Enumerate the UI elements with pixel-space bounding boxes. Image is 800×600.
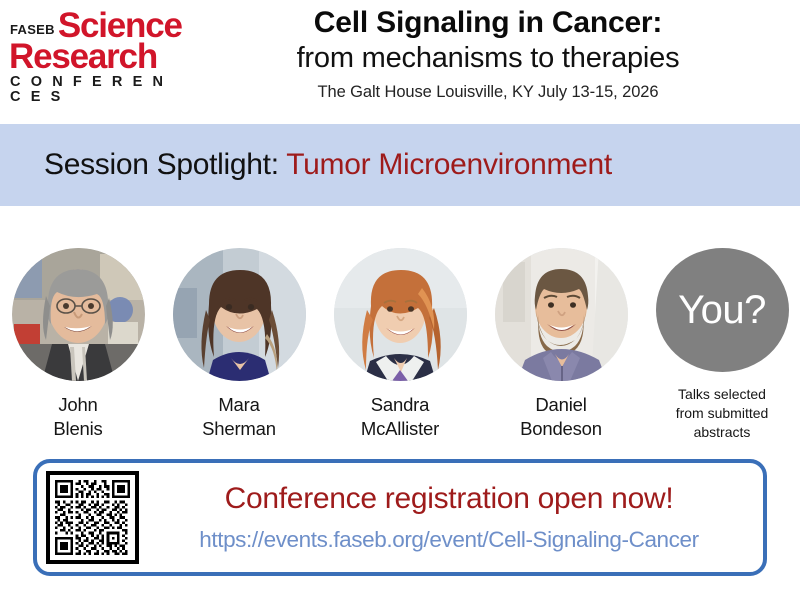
caption-line-3: abstracts bbox=[676, 423, 769, 442]
spotlight-topic: Tumor Microenvironment bbox=[286, 148, 612, 181]
page-subtitle: from mechanisms to therapies bbox=[186, 41, 790, 75]
avatar bbox=[12, 248, 145, 381]
registration-box[interactable]: Conference registration open now! https:… bbox=[33, 459, 767, 576]
spotlight-label: Session Spotlight: bbox=[44, 148, 286, 181]
logo-research-text: Research bbox=[8, 40, 180, 73]
speaker-name: Sandra McAllister bbox=[361, 393, 439, 442]
you-circle: You? bbox=[656, 248, 789, 372]
speaker-name: John Blenis bbox=[53, 393, 102, 442]
caption-line-1: Talks selected bbox=[676, 385, 769, 404]
avatar bbox=[173, 248, 306, 381]
speaker-last-name: Bondeson bbox=[520, 417, 602, 441]
caption-line-2: from submitted bbox=[676, 404, 769, 423]
header: FASEB Science Research C O N F E R E N C… bbox=[0, 0, 800, 124]
speaker-first-name: Mara bbox=[202, 393, 276, 417]
speaker-first-name: Sandra bbox=[361, 393, 439, 417]
speaker-row: John Blenis bbox=[0, 212, 800, 442]
open-slot-card[interactable]: You? Talks selected from submitted abstr… bbox=[646, 212, 798, 442]
venue-date-line: The Galt House Louisville, KY July 13-15… bbox=[186, 83, 790, 102]
speaker-last-name: McAllister bbox=[361, 417, 439, 441]
avatar bbox=[334, 248, 467, 381]
logo-conferences-text: C O N F E R E N C E S bbox=[8, 75, 180, 104]
page-title: Cell Signaling in Cancer: bbox=[186, 6, 790, 40]
speaker-first-name: Daniel bbox=[520, 393, 602, 417]
spotlight-heading: Session Spotlight: Tumor Microenvironmen… bbox=[44, 148, 612, 182]
qr-code[interactable] bbox=[46, 471, 139, 564]
speaker-card[interactable]: Mara Sherman bbox=[163, 212, 315, 442]
speaker-last-name: Blenis bbox=[53, 417, 102, 441]
registration-headline: Conference registration open now! bbox=[139, 481, 759, 517]
you-label: You? bbox=[678, 290, 766, 330]
speaker-first-name: John bbox=[53, 393, 102, 417]
speaker-card[interactable]: Daniel Bondeson bbox=[485, 212, 637, 442]
speaker-name: Daniel Bondeson bbox=[520, 393, 602, 442]
speaker-last-name: Sherman bbox=[202, 417, 276, 441]
speaker-card[interactable]: John Blenis bbox=[2, 212, 154, 442]
open-slot-caption: Talks selected from submitted abstracts bbox=[676, 385, 769, 442]
registration-url[interactable]: https://events.faseb.org/event/Cell-Sign… bbox=[139, 526, 759, 554]
title-block: Cell Signaling in Cancer: from mechanism… bbox=[186, 6, 790, 102]
avatar bbox=[495, 248, 628, 381]
session-spotlight-banner: Session Spotlight: Tumor Microenvironmen… bbox=[0, 124, 800, 206]
speaker-name: Mara Sherman bbox=[202, 393, 276, 442]
registration-text: Conference registration open now! https:… bbox=[139, 481, 763, 554]
faseb-logo: FASEB Science Research C O N F E R E N C… bbox=[8, 4, 180, 90]
speaker-card[interactable]: Sandra McAllister bbox=[324, 212, 476, 442]
